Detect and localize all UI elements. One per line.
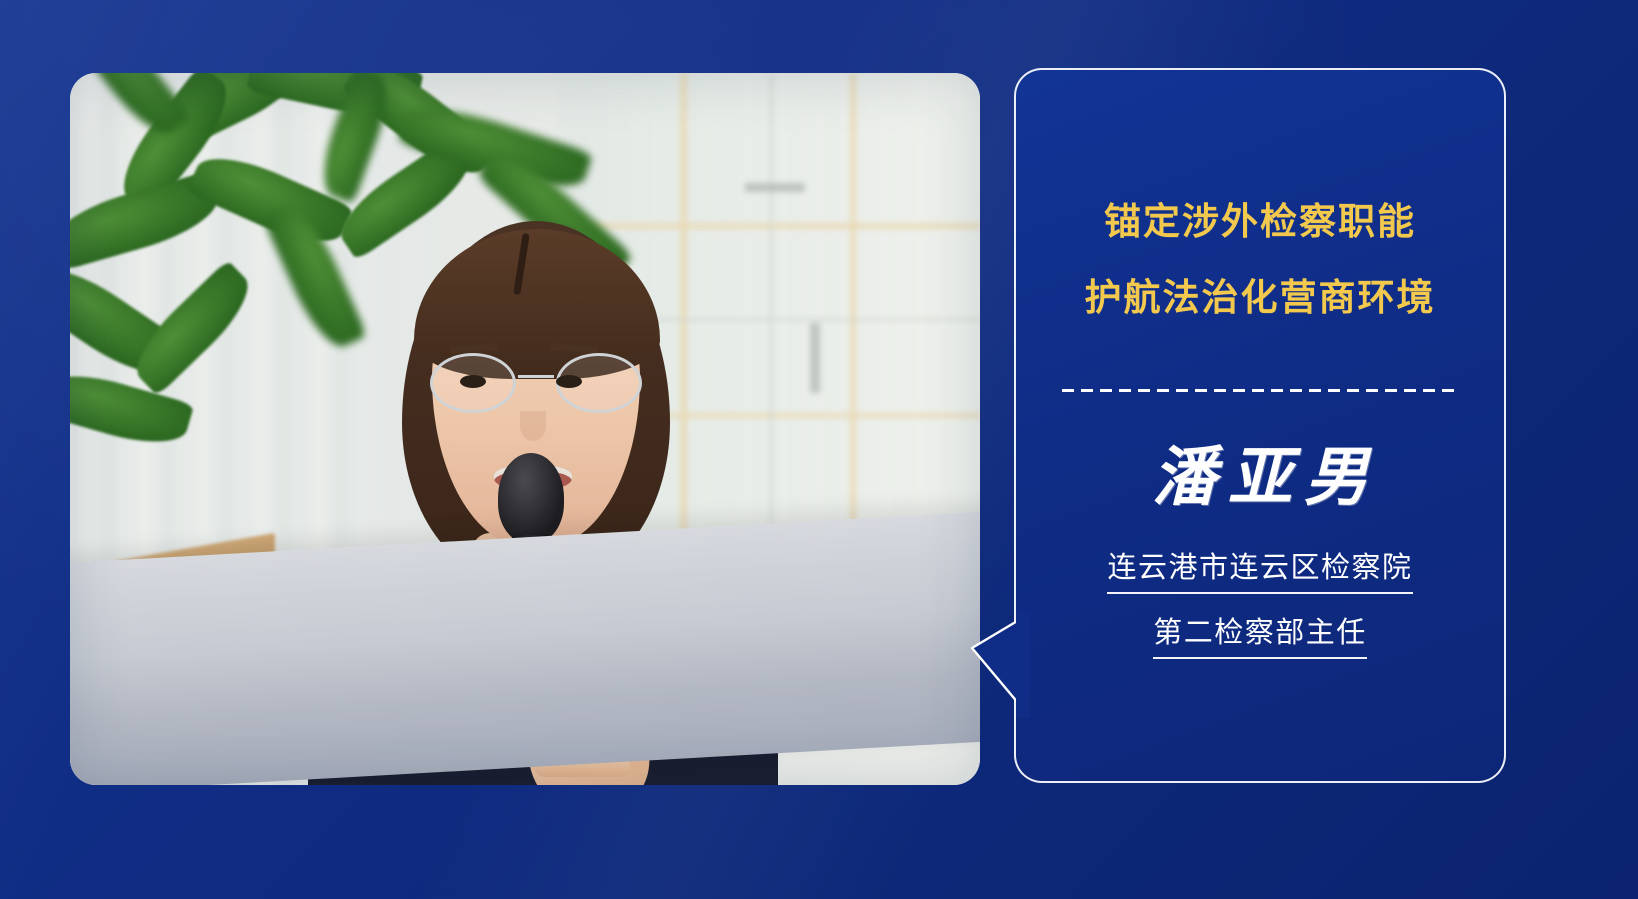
person-role: 第二检察部主任: [1153, 618, 1367, 659]
person-affiliation: 连云港市连云区检察院: [1107, 553, 1412, 594]
dashed-divider: [1062, 389, 1458, 392]
headline-line-2: 护航法治化营商环境: [1085, 280, 1436, 317]
headline-line-1: 锚定涉外检察职能: [1085, 204, 1436, 241]
headline: 锚定涉外检察职能 护航法治化营商环境: [1085, 204, 1436, 317]
person-name: 潘亚男: [1140, 444, 1380, 511]
info-card: 锚定涉外检察职能 护航法治化营商环境 潘亚男 连云港市连云区检察院 第二检察部主…: [1014, 68, 1506, 783]
photo-scene: [70, 73, 980, 785]
speaker-photo: [70, 73, 980, 785]
